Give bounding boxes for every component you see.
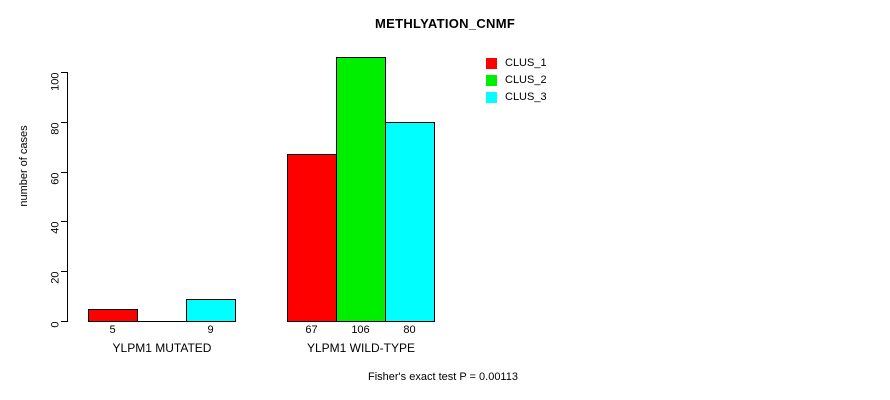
y-tick-label-0: 0 [51, 322, 62, 378]
bar-value-label: 80 [375, 324, 444, 336]
y-tick-label-100: 100 [51, 73, 62, 129]
y-tick-label-40: 40 [51, 222, 62, 278]
y-tick-label-60: 60 [51, 172, 62, 228]
legend-swatch-icon [486, 58, 497, 69]
group-label: YLPM1 WILD-TYPE [261, 341, 461, 355]
y-tick-0 [61, 321, 68, 322]
legend-label: CLUS_2 [505, 73, 547, 87]
bar-value-label: 5 [78, 324, 147, 336]
bar-clus_3[interactable] [385, 122, 435, 322]
group-baseline [287, 321, 434, 322]
y-axis-title: number of cases [18, 106, 30, 226]
bar-clus_2[interactable] [336, 57, 386, 322]
legend-label: CLUS_1 [505, 56, 547, 70]
y-tick-label-20: 20 [51, 272, 62, 328]
bar-clus_1[interactable] [88, 309, 138, 322]
statistical-annotation: Fisher's exact test P = 0.00113 [368, 371, 518, 383]
bar-chart-figure: METHLYATION_CNMF 020406080100 number of … [0, 0, 890, 400]
chart-title: METHLYATION_CNMF [375, 16, 515, 31]
bar-clus_3[interactable] [186, 299, 236, 322]
y-axis-line [67, 72, 68, 322]
bar-clus_1[interactable] [287, 154, 337, 322]
bar-value-label: 9 [176, 324, 245, 336]
y-tick-60 [61, 172, 68, 173]
y-tick-label-80: 80 [51, 122, 62, 178]
y-tick-40 [61, 221, 68, 222]
legend-label: CLUS_3 [505, 90, 547, 104]
y-tick-100 [61, 72, 68, 73]
group-label: YLPM1 MUTATED [62, 341, 262, 355]
y-tick-80 [61, 122, 68, 123]
group-baseline [88, 321, 235, 322]
legend-swatch-icon [486, 92, 497, 103]
legend-swatch-icon [486, 75, 497, 86]
y-tick-20 [61, 271, 68, 272]
